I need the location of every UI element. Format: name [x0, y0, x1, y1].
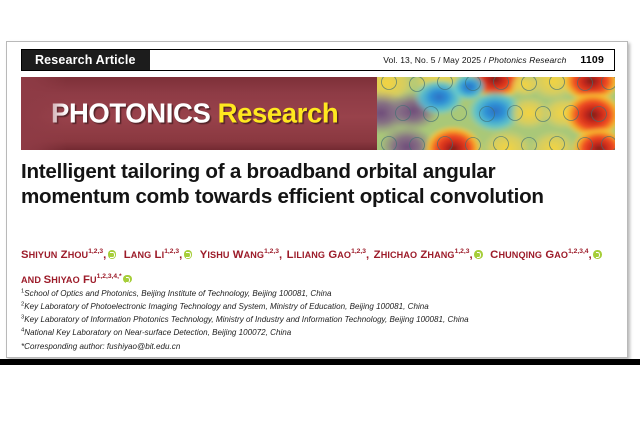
author-name[interactable]: SHIYAO FU1,2,3,4,*	[44, 274, 122, 286]
affiliation-item: 2Key Laboratory of Photoelectronic Imagi…	[21, 300, 613, 313]
author-name[interactable]: YISHU WANG1,2,3,	[200, 249, 282, 261]
affiliation-marker: 4	[21, 327, 24, 333]
running-head-citation-area: Vol. 13, No. 5 / May 2025 / Photonics Re…	[150, 50, 614, 70]
author-name[interactable]: CHUNQING GAO1,2,3,4,	[490, 249, 592, 261]
orcid-icon[interactable]	[474, 250, 483, 259]
article-title: Intelligent tailoring of a broadband orb…	[21, 159, 581, 210]
affiliation-item: 1School of Optics and Photonics, Beijing…	[21, 287, 613, 300]
orcid-icon[interactable]	[123, 275, 132, 284]
author-name[interactable]: ZHICHAO ZHANG1,2,3,	[374, 249, 473, 261]
author-name[interactable]: SHIYUN ZHOU1,2,3,	[21, 249, 106, 261]
photonic-crystal-field-pattern-icon	[377, 77, 615, 150]
author-name[interactable]: LILIANG GAO1,2,3,	[287, 249, 370, 261]
orcid-icon[interactable]	[108, 250, 117, 259]
citation-journal-name: Photonics Research	[489, 55, 567, 65]
author-name[interactable]: LANG LI1,2,3,	[124, 249, 183, 261]
page-number: 1109	[580, 54, 604, 66]
running-head: Research Article Vol. 13, No. 5 / May 20…	[21, 49, 615, 71]
banner-art-fade-overlay	[21, 77, 67, 150]
author-conjunction: AND	[21, 275, 44, 285]
affiliation-marker: 2	[21, 301, 24, 307]
article-type-badge: Research Article	[22, 50, 150, 70]
author-line: SHIYUN ZHOU1,2,3, LANG LI1,2,3, YISHU WA…	[21, 242, 611, 292]
orcid-icon[interactable]	[593, 250, 602, 259]
affiliation-item: 3Key Laboratory of Information Photonics…	[21, 313, 613, 326]
bottom-black-rule	[0, 359, 640, 365]
wordmark-research: Research	[218, 97, 339, 128]
affiliation-marker: 3	[21, 314, 24, 320]
author-list: SHIYUN ZHOU1,2,3, LANG LI1,2,3, YISHU WA…	[21, 242, 611, 292]
orcid-icon[interactable]	[184, 250, 193, 259]
journal-wordmark: PHOTONICS Research	[51, 97, 338, 129]
citation-volume-issue-date: Vol. 13, No. 5 / May 2025 /	[383, 55, 488, 65]
affiliation-marker: 1	[21, 288, 24, 294]
citation-line: Vol. 13, No. 5 / May 2025 / Photonics Re…	[383, 55, 566, 65]
affiliation-item: 4National Key Laboratory on Near-surface…	[21, 326, 613, 339]
journal-banner: PHOTONICS Research	[21, 77, 615, 150]
wordmark-photonics: PHOTONICS	[51, 97, 210, 128]
corresponding-author[interactable]: *Corresponding author: fushiyao@bit.edu.…	[21, 340, 613, 353]
journal-page-sheet: Research Article Vol. 13, No. 5 / May 20…	[6, 41, 628, 358]
affiliation-list: 1School of Optics and Photonics, Beijing…	[21, 287, 613, 353]
